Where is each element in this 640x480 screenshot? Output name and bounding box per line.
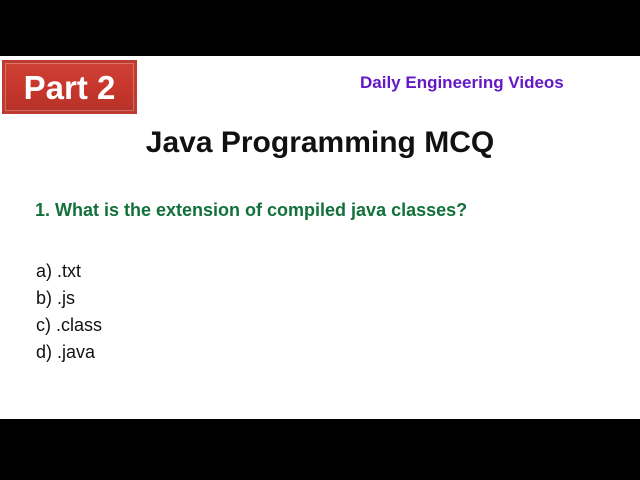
slide-canvas: Part 2 Daily Engineering Videos Java Pro… bbox=[0, 56, 640, 419]
part-badge: Part 2 bbox=[2, 60, 137, 114]
letterbox-bottom bbox=[0, 419, 640, 480]
answer-option-c: c) .class bbox=[36, 312, 336, 339]
slide-title: Java Programming MCQ bbox=[0, 126, 640, 160]
answer-option-a: a) .txt bbox=[36, 258, 336, 285]
letterbox-top bbox=[0, 0, 640, 56]
question-text: 1. What is the extension of compiled jav… bbox=[35, 200, 467, 221]
answer-option-b: b) .js bbox=[36, 285, 336, 312]
channel-tagline: Daily Engineering Videos bbox=[360, 73, 620, 93]
video-frame: Part 2 Daily Engineering Videos Java Pro… bbox=[0, 0, 640, 480]
part-badge-label: Part 2 bbox=[24, 71, 116, 104]
answer-option-d: d) .java bbox=[36, 339, 336, 366]
answer-options-list: a) .txt b) .js c) .class d) .java bbox=[36, 258, 336, 366]
